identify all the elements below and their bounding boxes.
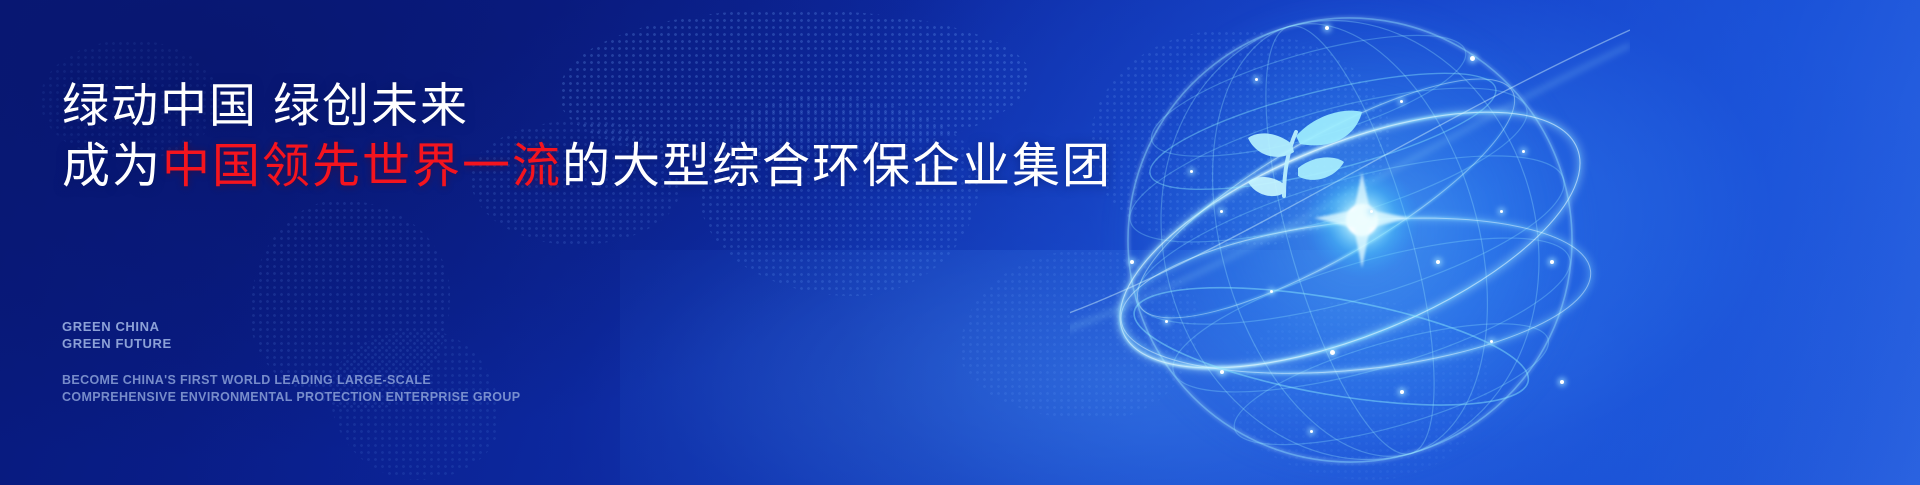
tagline: GREEN CHINA GREEN FUTURE [62,318,172,352]
hero-banner: 绿动中国 绿创未来 成为中国领先世界一流的大型综合环保企业集团 GREEN CH… [0,0,1920,485]
globe-graphic [1070,0,1630,485]
subcopy: BECOME CHINA'S FIRST WORLD LEADING LARGE… [62,372,520,405]
globe-glow [1110,0,1590,480]
subcopy-line-1: BECOME CHINA'S FIRST WORLD LEADING LARGE… [62,372,520,389]
tagline-line-1: GREEN CHINA [62,318,172,335]
headline: 绿动中国 绿创未来 成为中国领先世界一流的大型综合环保企业集团 [62,76,1112,198]
headline-line-2: 成为中国领先世界一流的大型综合环保企业集团 [62,136,1112,197]
headline-line-2-suffix: 的大型综合环保企业集团 [562,140,1112,193]
headline-line-2-prefix: 成为 [62,140,162,193]
headline-highlight: 中国领先世界一流 [162,140,562,193]
sprout-leaf-icon [1248,111,1362,196]
headline-line-1: 绿动中国 绿创未来 [62,79,469,132]
tagline-line-2: GREEN FUTURE [62,335,172,352]
banner-copy: 绿动中国 绿创未来 成为中国领先世界一流的大型综合环保企业集团 GREEN CH… [62,0,1062,485]
core-glow [1304,162,1420,278]
subcopy-line-2: COMPREHENSIVE ENVIRONMENTAL PROTECTION E… [62,389,520,406]
globe-wireframe-svg [1070,0,1630,485]
